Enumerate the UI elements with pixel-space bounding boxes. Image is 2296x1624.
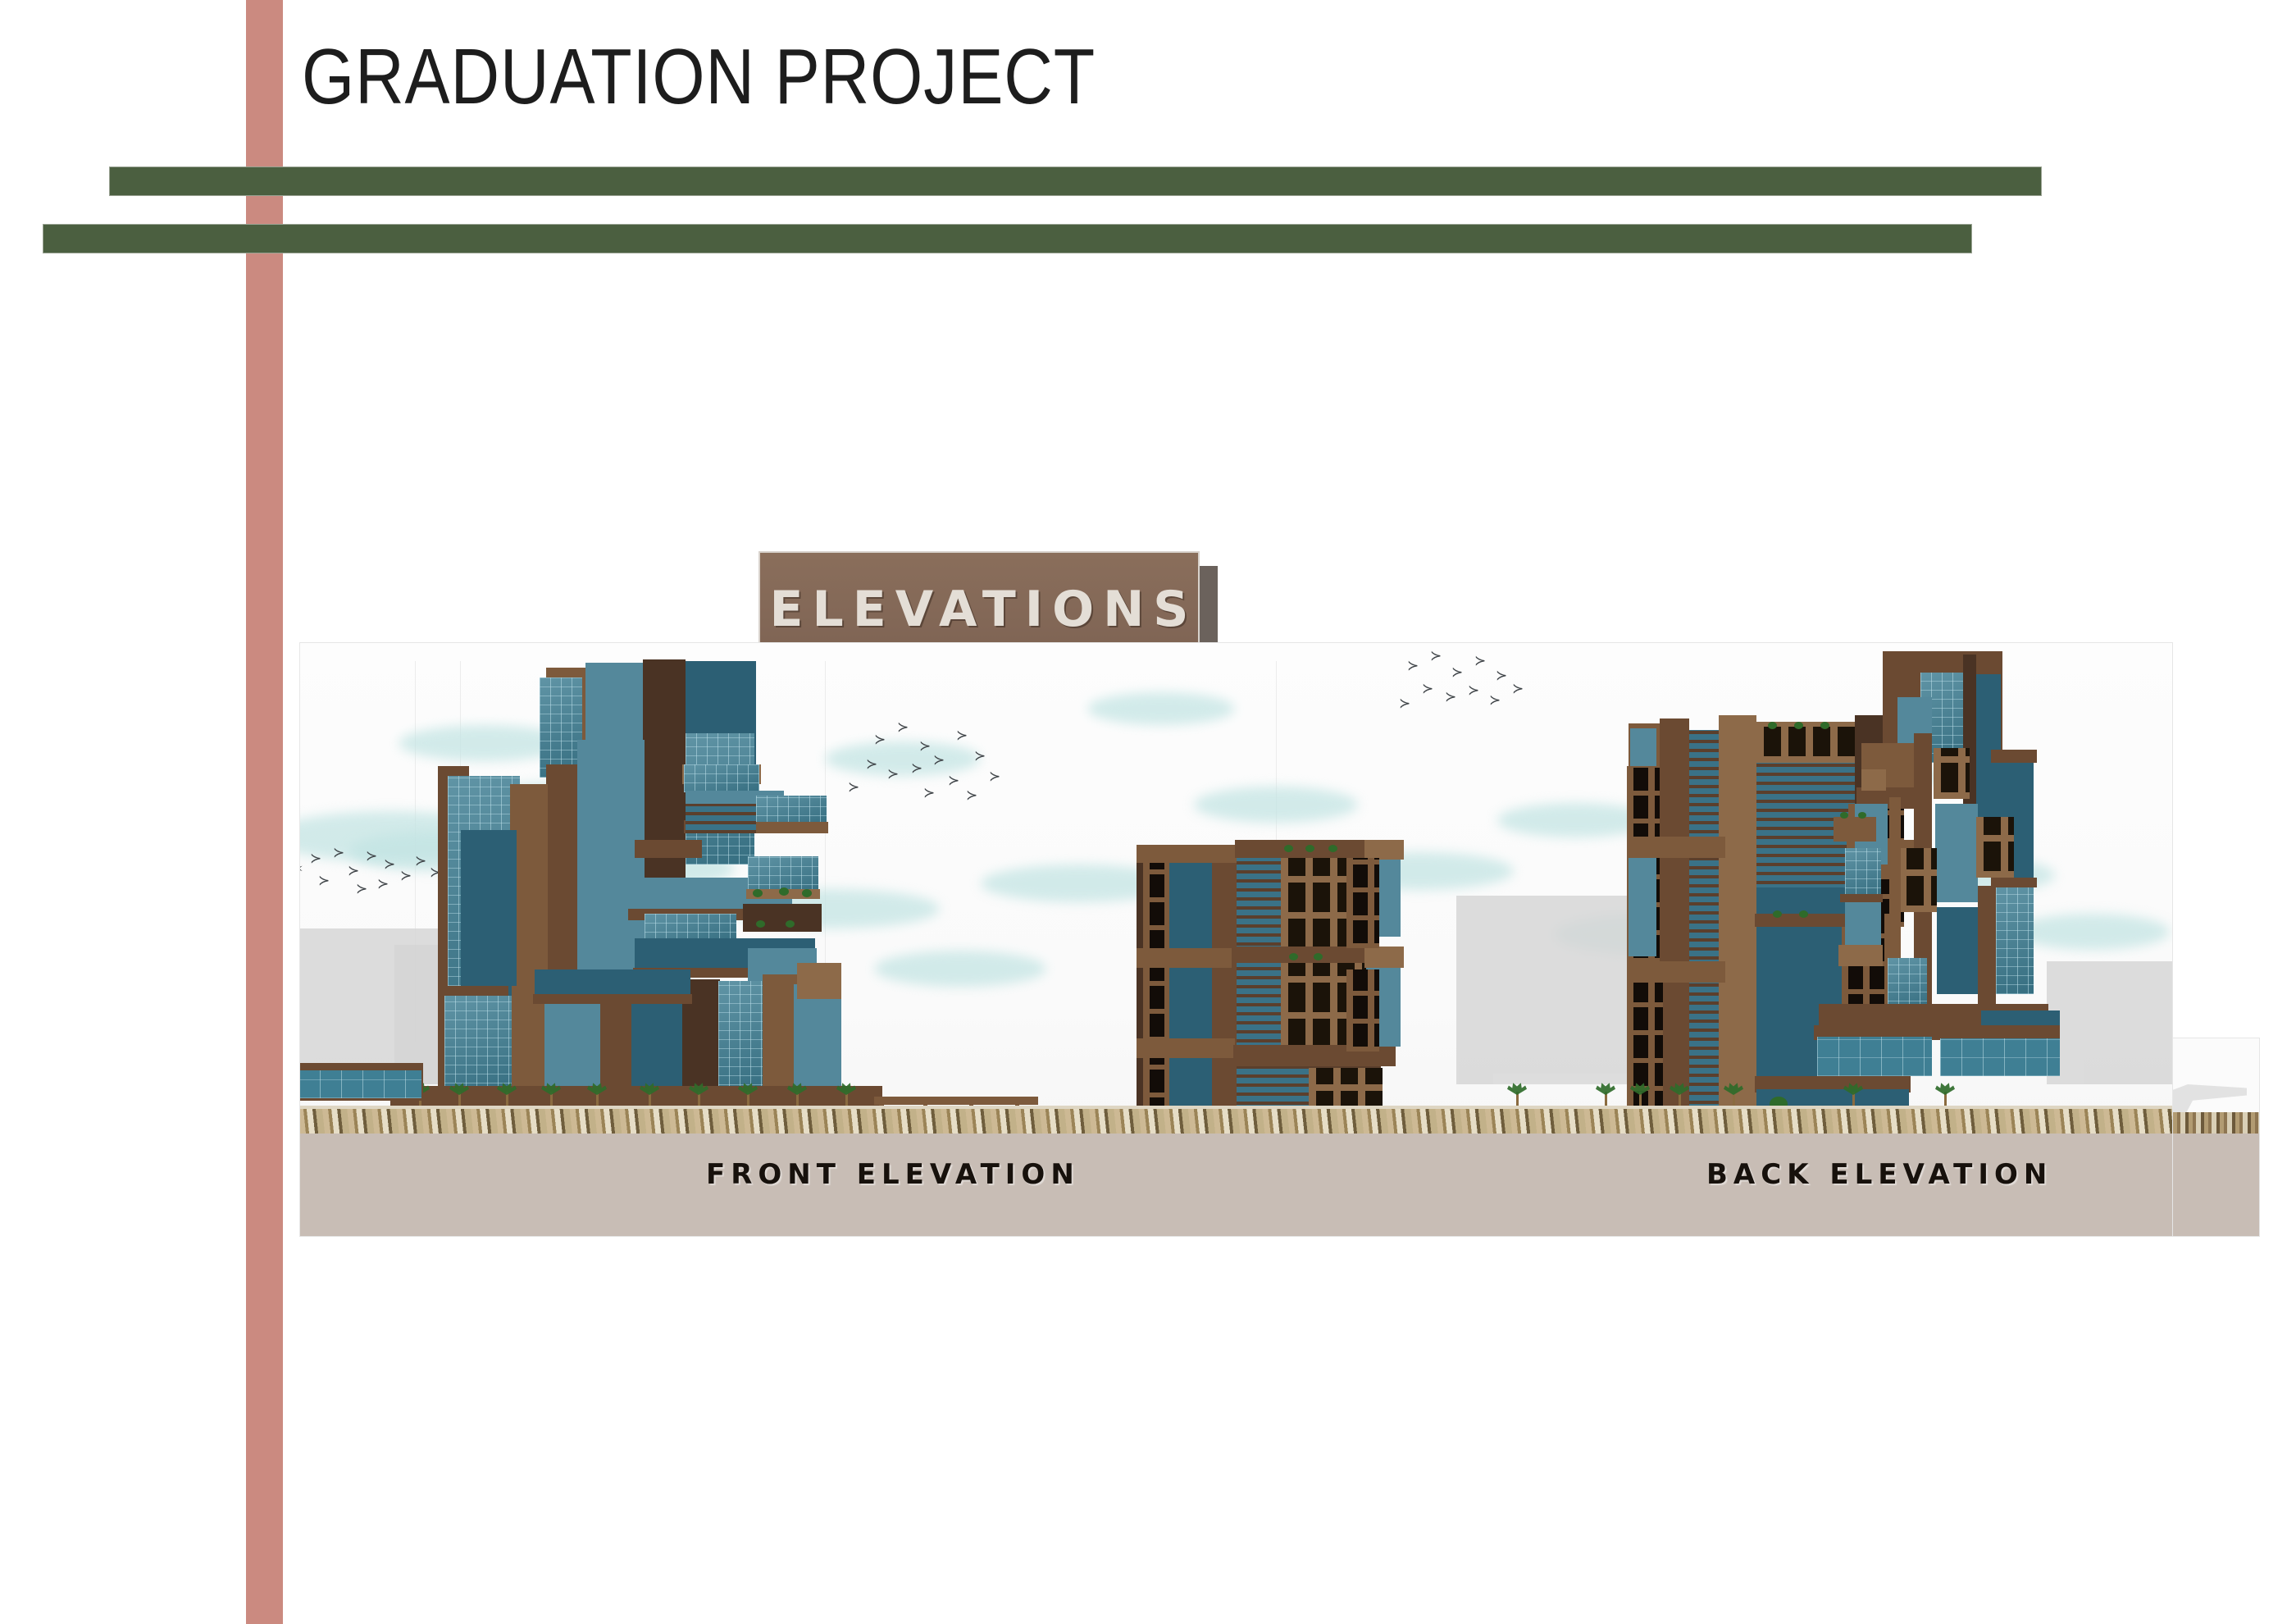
cloud	[874, 951, 1046, 987]
label-front-elevation: FRONT ELEVATION	[706, 1158, 1080, 1191]
cloud	[1194, 787, 1358, 823]
cloud	[1087, 692, 1235, 725]
horizontal-accent-bar-top	[109, 167, 2042, 196]
plaque-label: ELEVATIONS	[760, 581, 1197, 638]
cloud	[2014, 914, 2170, 950]
elevation-render-panel: ✶ ≻ ≻ ≻ ≻ ≻ ≻ ≻ ≻ ≻ ≻ ≻ ≻ ≻ ≻ ≻ ≻ ≻ ≻ ≻ …	[299, 642, 2173, 1237]
riprap-extension	[2173, 1112, 2259, 1134]
slide-canvas: GRADUATION PROJECT ELEVATIONS	[0, 0, 2296, 1624]
label-back-elevation: BACK ELEVATION	[1706, 1158, 2052, 1191]
page-title: GRADUATION PROJECT	[302, 36, 1096, 119]
render-panel-extension	[2173, 1038, 2260, 1237]
cloud	[825, 741, 981, 776]
horizontal-accent-bar-bottom	[43, 224, 1972, 253]
ground-band-extension	[2173, 1134, 2259, 1236]
riprap-embankment	[300, 1109, 2172, 1134]
background-gantry-crane	[2047, 961, 2173, 1084]
